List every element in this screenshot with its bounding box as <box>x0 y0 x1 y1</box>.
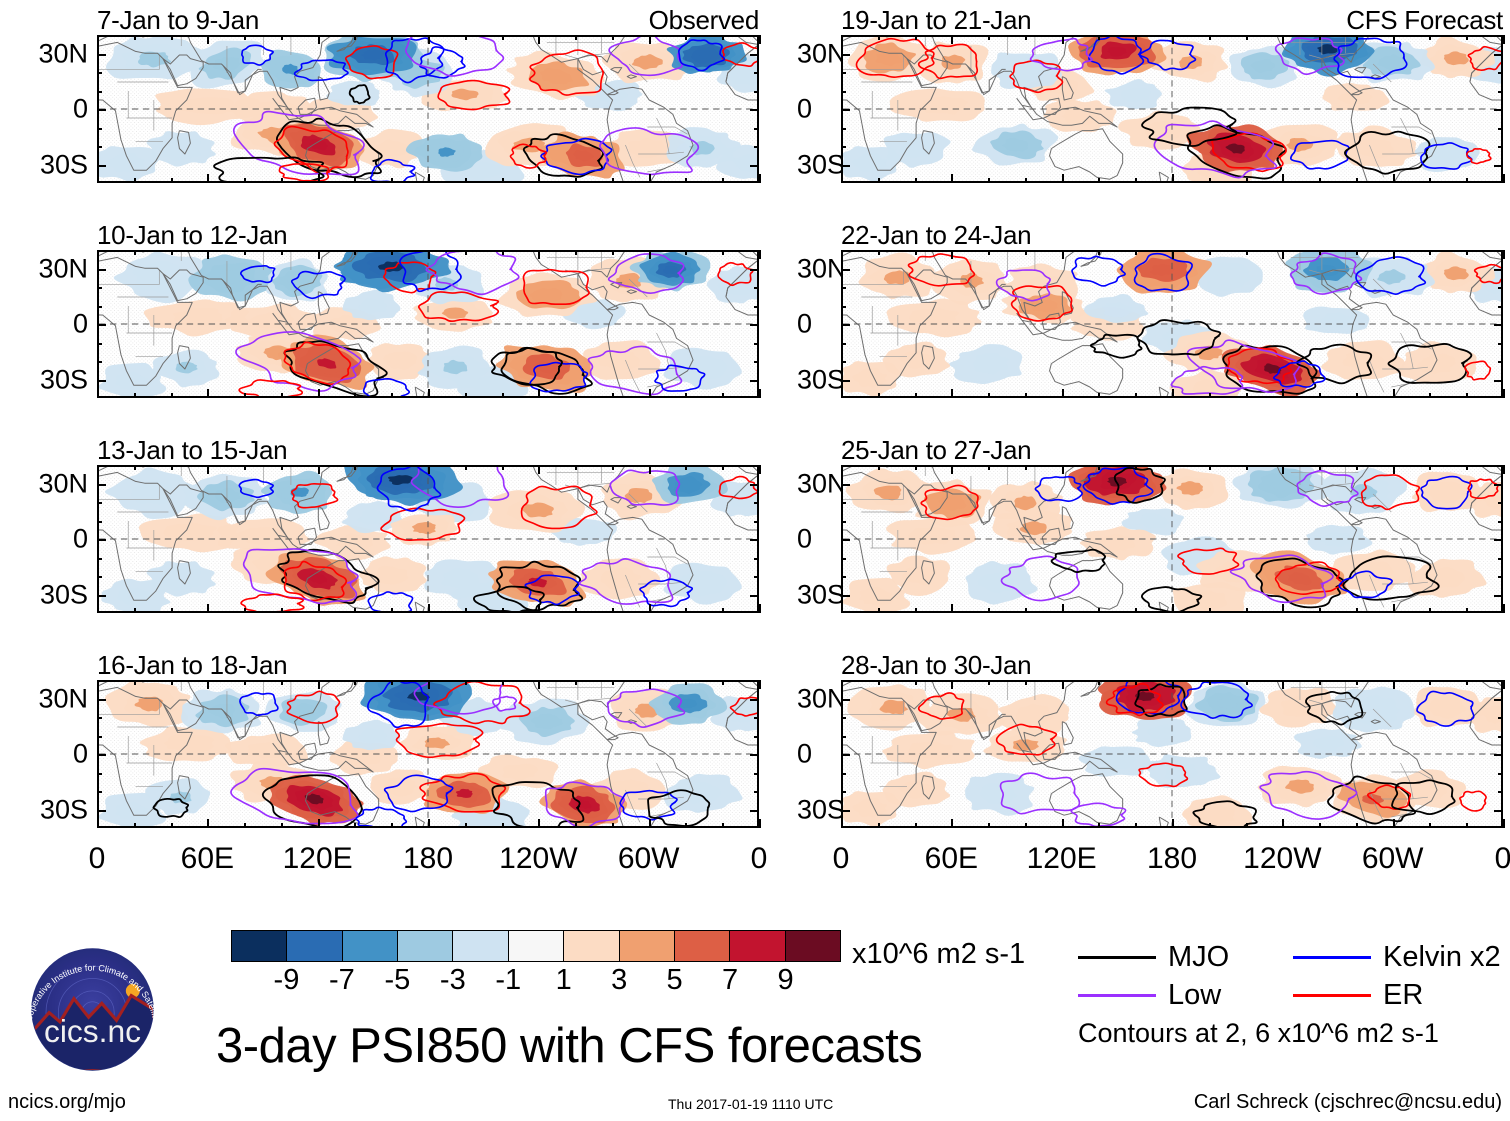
colorbar-tick: 7 <box>722 964 738 997</box>
panel-16jan-18jan: 16-Jan to 18-Jan30N030S060E120E180120W60… <box>97 680 759 828</box>
x-tick-label: 120E <box>283 842 353 876</box>
panel-22jan-24jan-map <box>841 250 1503 398</box>
contour-note: Contours at 2, 6 x10^6 m2 s-1 <box>1078 1018 1439 1049</box>
colorbar-tick: -9 <box>274 964 300 997</box>
footer-left: ncics.org/mjo <box>8 1091 126 1114</box>
y-tick-label: 30S <box>40 149 88 180</box>
y-tick-label: 30S <box>797 364 845 395</box>
x-tick-label: 120E <box>1027 842 1097 876</box>
x-tick-label: 120W <box>499 842 577 876</box>
colorbar-swatch-1 <box>287 931 342 961</box>
logo-svg: Cooperative Institute for Climate and Sa… <box>15 932 170 1087</box>
y-tick-label: 0 <box>73 739 88 770</box>
colorbar-swatches <box>231 930 841 962</box>
x-tick-label: 60W <box>1362 842 1424 876</box>
x-tick-label: 180 <box>403 842 453 876</box>
contour-legend: MJO Kelvin x2 Low ER <box>1078 938 1508 1014</box>
panel-13jan-15jan: 13-Jan to 15-Jan30N030S <box>97 465 759 613</box>
colorbar: -9-7-5-3-113579 <box>231 930 841 962</box>
colorbar-swatch-9 <box>730 931 785 961</box>
panel-7jan-9jan: 7-Jan to 9-JanObserved30N030S <box>97 35 759 183</box>
page-title: 3-day PSI850 with CFS forecasts <box>216 1018 922 1074</box>
panel-10jan-12jan-title: 10-Jan to 12-Jan <box>97 220 287 251</box>
panel-28jan-30jan-map <box>841 680 1503 828</box>
colorbar-units: x10^6 m2 s-1 <box>852 938 1025 971</box>
colorbar-tick: 9 <box>777 964 793 997</box>
colorbar-swatch-7 <box>620 931 675 961</box>
y-tick-label: 30S <box>40 794 88 825</box>
y-tick-label: 0 <box>73 94 88 125</box>
x-axis: 060E120E180120W60W0 <box>97 842 759 876</box>
y-tick-label: 0 <box>73 524 88 555</box>
x-tick-label: 120W <box>1243 842 1321 876</box>
y-tick-label: 30S <box>797 794 845 825</box>
colorbar-tick: 3 <box>611 964 627 997</box>
legend-item-kelvin: Kelvin x2 <box>1293 941 1508 974</box>
x-tick-label: 60E <box>925 842 978 876</box>
x-tick-label: 60W <box>618 842 680 876</box>
colorbar-tick: -3 <box>440 964 466 997</box>
kelvin-line-icon <box>1293 956 1371 959</box>
x-axis: 060E120E180120W60W0 <box>841 842 1503 876</box>
colorbar-swatch-0 <box>232 931 287 961</box>
column-header-cfs-forecast: CFS Forecast <box>1346 5 1503 36</box>
x-tick-label: 180 <box>1147 842 1197 876</box>
colorbar-tick: -1 <box>495 964 521 997</box>
x-tick-label: 0 <box>751 842 768 876</box>
y-tick-label: 30N <box>797 468 847 499</box>
panel-10jan-12jan-map <box>97 250 759 398</box>
colorbar-tick: -5 <box>384 964 410 997</box>
panel-16jan-18jan-title: 16-Jan to 18-Jan <box>97 650 287 681</box>
y-tick-label: 30S <box>40 579 88 610</box>
colorbar-swatch-3 <box>398 931 453 961</box>
colorbar-swatch-5 <box>509 931 564 961</box>
x-tick-label: 0 <box>833 842 850 876</box>
panel-7jan-9jan-map <box>97 35 759 183</box>
y-tick-label: 30N <box>797 253 847 284</box>
er-line-icon <box>1293 994 1371 997</box>
colorbar-swatch-2 <box>343 931 398 961</box>
panel-25jan-27jan: 25-Jan to 27-Jan30N030S <box>841 465 1503 613</box>
y-tick-label: 0 <box>797 739 812 770</box>
colorbar-swatch-8 <box>675 931 730 961</box>
y-tick-label: 30S <box>40 364 88 395</box>
column-header-observed: Observed <box>649 5 759 36</box>
footer-center: Thu 2017-01-19 1110 UTC <box>668 1096 833 1112</box>
colorbar-swatch-6 <box>564 931 619 961</box>
y-tick-label: 30S <box>797 579 845 610</box>
footer-right: Carl Schreck (cjschrec@ncsu.edu) <box>1194 1091 1502 1114</box>
panel-28jan-30jan-title: 28-Jan to 30-Jan <box>841 650 1031 681</box>
panel-10jan-12jan: 10-Jan to 12-Jan30N030S <box>97 250 759 398</box>
y-tick-label: 30N <box>38 683 88 714</box>
legend-item-mjo: MJO <box>1078 941 1293 974</box>
y-tick-label: 30N <box>38 468 88 499</box>
panel-16jan-18jan-map <box>97 680 759 828</box>
y-tick-label: 30N <box>797 38 847 69</box>
panel-grid: 7-Jan to 9-JanObserved30N030S10-Jan to 1… <box>0 0 1510 880</box>
panel-28jan-30jan: 28-Jan to 30-Jan30N030S060E120E180120W60… <box>841 680 1503 828</box>
panel-7jan-9jan-title: 7-Jan to 9-Jan <box>97 5 259 36</box>
panel-22jan-24jan-title: 22-Jan to 24-Jan <box>841 220 1031 251</box>
legend-item-low: Low <box>1078 979 1293 1012</box>
logo-wordmark: cics.nc <box>44 1013 141 1049</box>
legend-label-kelvin: Kelvin x2 <box>1383 941 1501 974</box>
legend-label-er: ER <box>1383 979 1423 1012</box>
panel-25jan-27jan-title: 25-Jan to 27-Jan <box>841 435 1031 466</box>
panel-25jan-27jan-map <box>841 465 1503 613</box>
colorbar-tick: 1 <box>556 964 572 997</box>
y-tick-label: 30N <box>38 253 88 284</box>
colorbar-swatch-10 <box>786 931 840 961</box>
legend-label-mjo: MJO <box>1168 941 1229 974</box>
y-tick-label: 30N <box>38 38 88 69</box>
legend-row: Low ER <box>1078 976 1508 1014</box>
colorbar-tick: 5 <box>667 964 683 997</box>
panel-19jan-21jan: 19-Jan to 21-JanCFS Forecast30N030S <box>841 35 1503 183</box>
panel-19jan-21jan-title: 19-Jan to 21-Jan <box>841 5 1031 36</box>
y-tick-label: 30S <box>797 149 845 180</box>
legend-row: MJO Kelvin x2 <box>1078 938 1508 976</box>
y-tick-label: 0 <box>797 309 812 340</box>
x-tick-label: 0 <box>1495 842 1510 876</box>
y-tick-label: 0 <box>73 309 88 340</box>
y-tick-label: 0 <box>797 524 812 555</box>
x-tick-label: 60E <box>181 842 234 876</box>
panel-13jan-15jan-map <box>97 465 759 613</box>
colorbar-swatch-4 <box>453 931 508 961</box>
y-tick-label: 0 <box>797 94 812 125</box>
panel-13jan-15jan-title: 13-Jan to 15-Jan <box>97 435 287 466</box>
mjo-line-icon <box>1078 956 1156 959</box>
cics-nc-logo: Cooperative Institute for Climate and Sa… <box>15 932 170 1087</box>
colorbar-ticks: -9-7-5-3-113579 <box>231 964 841 998</box>
low-line-icon <box>1078 994 1156 997</box>
legend-label-low: Low <box>1168 979 1221 1012</box>
x-tick-label: 0 <box>89 842 106 876</box>
colorbar-tick: -7 <box>329 964 355 997</box>
y-tick-label: 30N <box>797 683 847 714</box>
panel-19jan-21jan-map <box>841 35 1503 183</box>
legend-item-er: ER <box>1293 979 1508 1012</box>
panel-22jan-24jan: 22-Jan to 24-Jan30N030S <box>841 250 1503 398</box>
